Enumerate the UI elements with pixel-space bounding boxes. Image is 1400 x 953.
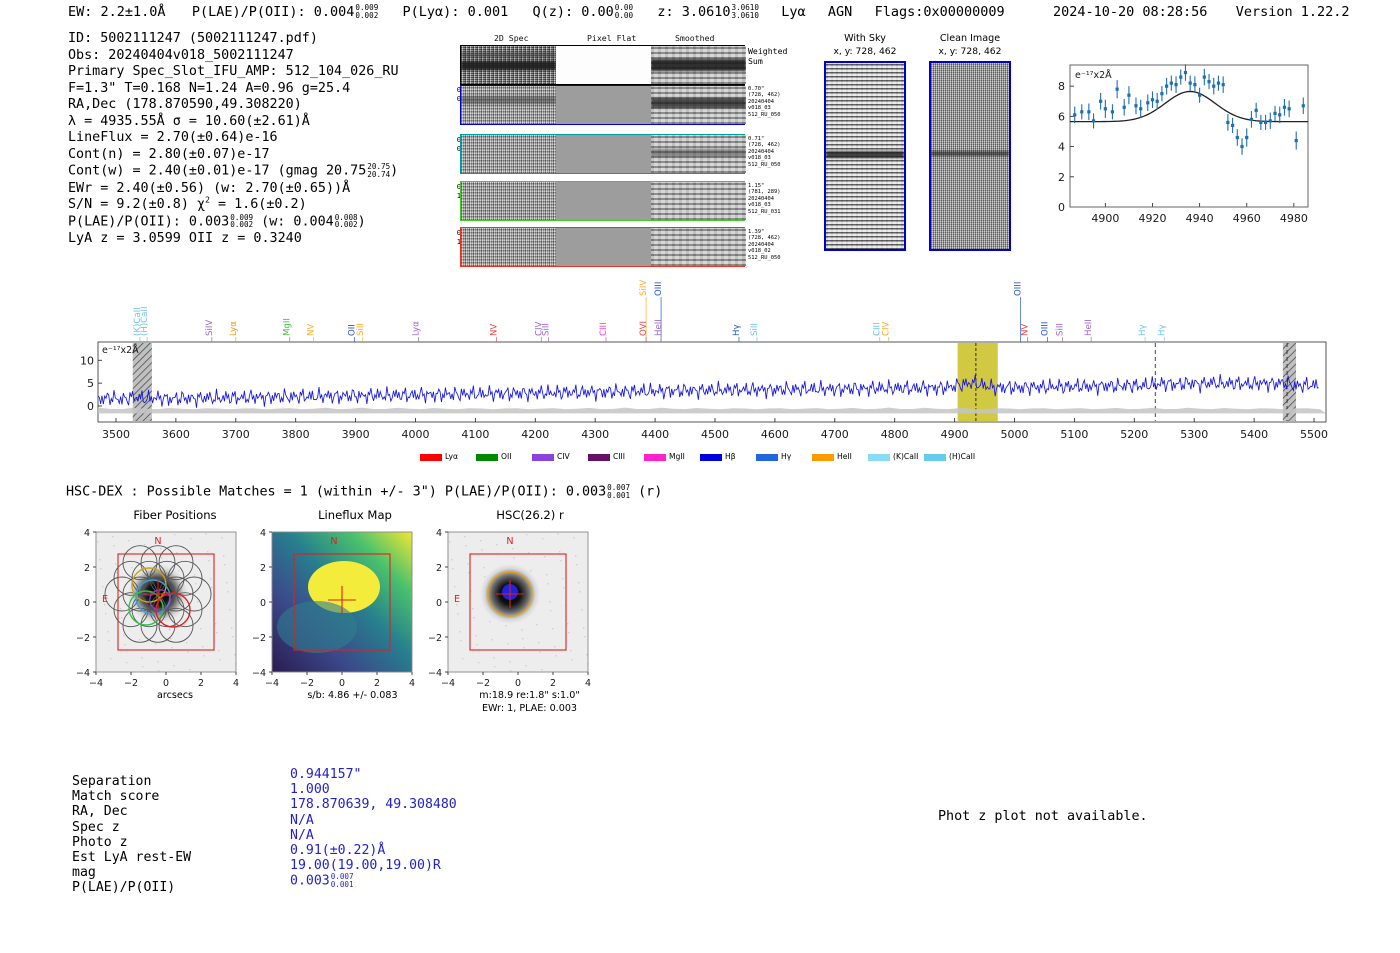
header-plae-label: P(LAE)/P(OII): — [192, 4, 306, 20]
svg-text:3500: 3500 — [102, 428, 130, 441]
svg-text:−4: −4 — [265, 678, 279, 689]
info-cont-w: Cont(w) = 2.40(±0.01)e-17 (gmag 20.7520.… — [68, 163, 399, 180]
fiber0-pixelflat — [556, 86, 651, 124]
match-key-ra-dec: RA, Dec — [72, 804, 128, 819]
legend-item-heii: HeII — [812, 452, 852, 461]
svg-text:HeII: HeII — [1084, 319, 1094, 336]
panel-title-lineflux-map: Lineflux Map — [275, 508, 435, 522]
legend-swatch — [588, 454, 610, 461]
photoz-unavailable-message: Phot z plot not available. — [938, 809, 1148, 824]
fiber1-2dspec — [461, 135, 556, 173]
svg-text:5500: 5500 — [1300, 428, 1328, 441]
svg-text:4: 4 — [585, 678, 591, 689]
fiber2-2dspec — [461, 182, 556, 220]
match-value-1: 1.000 — [290, 782, 457, 797]
linefit-plot: 0246849004920494049604980e⁻¹⁷x2Å — [1036, 55, 1316, 245]
match-key-p-lae-p-oii: P(LAE)/P(OII) — [72, 880, 175, 895]
legend-item-kcaii: (K)CaII — [868, 452, 918, 461]
match-key-match-score: Match score — [72, 789, 159, 804]
svg-text:4700: 4700 — [821, 428, 849, 441]
spec2d-rightlabels-2: 1.15"(781, 289) 20240404v018_03 512_RU_0… — [748, 183, 796, 215]
hscdex-lo: 0.001 — [607, 492, 630, 500]
spec2d-rightlabels-3: 1.39"(728, 462) 20240404v018_02 512_RU_0… — [748, 229, 796, 261]
svg-text:Hγ: Hγ — [1157, 324, 1167, 336]
svg-text:HeII: HeII — [654, 319, 664, 336]
cutout-coords-with-sky: x, y: 728, 462 — [810, 46, 920, 57]
legend-item-mgii: MgII — [644, 452, 685, 461]
info-plae-lo: 0.002 — [230, 221, 253, 229]
spec2d-stack: 2D Spec Pixel Flat Smoothed Weighted Sum… — [432, 33, 762, 248]
svg-text:5200: 5200 — [1120, 428, 1148, 441]
svg-text:4: 4 — [260, 528, 266, 539]
svg-text:N: N — [506, 536, 513, 547]
header-plae-lo: 0.002 — [355, 12, 378, 20]
fiber0-2dspec — [461, 86, 556, 124]
svg-text:0: 0 — [515, 678, 521, 689]
svg-text:3700: 3700 — [222, 428, 250, 441]
cutout-coords-clean-image: x, y: 728, 462 — [915, 46, 1025, 57]
legend-swatch — [420, 454, 442, 461]
header-timestamp-version: 2024-10-20 08:28:56 Version 1.22.2 — [1053, 4, 1350, 20]
weighted-sum-label: Weighted Sum — [748, 47, 787, 66]
caption-hsc-r-line1: m:18.9 re:1.8" s:1.0" — [442, 690, 617, 701]
svg-text:4920: 4920 — [1138, 212, 1166, 225]
svg-text:Hγ: Hγ — [732, 324, 742, 336]
svg-text:4: 4 — [1058, 141, 1065, 154]
svg-text:0: 0 — [436, 598, 442, 609]
svg-text:−4: −4 — [428, 668, 442, 679]
match-value-7: 0.0030.0070.001 — [290, 873, 457, 889]
info-sn-pre: S/N = 9.2(±0.8) χ — [68, 197, 205, 212]
match-value-5: 0.91(±0.22)Å — [290, 843, 457, 858]
svg-text:4900: 4900 — [1091, 212, 1119, 225]
match-key-mag: mag — [72, 865, 96, 880]
match-key-separation: Separation — [72, 774, 151, 789]
svg-text:−2: −2 — [252, 633, 266, 644]
svg-text:3800: 3800 — [282, 428, 310, 441]
match-plae-lo: 0.001 — [331, 881, 354, 889]
svg-text:5300: 5300 — [1180, 428, 1208, 441]
info-primary-spec: Primary Spec_Slot_IFU_AMP: 512_104_026_R… — [68, 64, 399, 81]
svg-text:N: N — [330, 536, 337, 547]
svg-text:0: 0 — [1058, 201, 1065, 214]
svg-text:4600: 4600 — [761, 428, 789, 441]
svg-text:SiII: SiII — [542, 323, 552, 336]
svg-text:SiIV: SiIV — [205, 320, 215, 336]
legend-label: HeII — [837, 452, 852, 461]
svg-text:−4: −4 — [441, 678, 455, 689]
header-plae-value: 0.004 — [314, 4, 355, 20]
info-lambda-sigma: λ = 4935.55Å σ = 10.60(±2.61)Å — [68, 114, 399, 131]
info-plae-mid: (w: 0.004 — [261, 214, 334, 229]
header-summary-line: EW: 2.2±1.0Å P(LAE)/P(OII): 0.0040.0090.… — [68, 4, 1005, 20]
spec2d-row-fiber-2 — [460, 181, 745, 221]
info-plae-w-lo: 0.002 — [335, 221, 358, 229]
svg-text:2: 2 — [436, 563, 442, 574]
svg-text:4400: 4400 — [641, 428, 669, 441]
info-cont-n: Cont(n) = 2.80(±0.07)e-17 — [68, 147, 399, 164]
header-z-lo: 3.0610 — [732, 12, 759, 20]
spec2d-cell-smoothed — [651, 46, 746, 84]
hscdex-match-summary: HSC-DEX : Possible Matches = 1 (within +… — [66, 484, 662, 500]
emission-line-legend: LyαOIICIVCIIIMgIIHβHγHeII(K)CaII(H)CaII — [420, 452, 980, 466]
fiber3-smoothed — [651, 228, 746, 266]
legend-label: MgII — [669, 452, 685, 461]
svg-text:NV: NV — [307, 324, 317, 336]
svg-text:4960: 4960 — [1233, 212, 1261, 225]
svg-text:2: 2 — [374, 678, 380, 689]
cutout-title-with-sky: With Sky — [810, 33, 920, 44]
legend-swatch — [812, 454, 834, 461]
svg-text:4800: 4800 — [881, 428, 909, 441]
legend-swatch — [476, 454, 498, 461]
svg-text:5: 5 — [87, 377, 94, 390]
legend-swatch — [700, 454, 722, 461]
svg-text:−4: −4 — [252, 668, 266, 679]
svg-text:4940: 4940 — [1186, 212, 1214, 225]
legend-item-hcaii: (H)CaII — [924, 452, 975, 461]
svg-text:4980: 4980 — [1280, 212, 1308, 225]
info-sn-post: = 1.6(±0.2) — [210, 197, 307, 212]
svg-text:4500: 4500 — [701, 428, 729, 441]
svg-text:e⁻¹⁷x2Å: e⁻¹⁷x2Å — [1075, 69, 1112, 81]
match-key-photo-z: Photo z — [72, 835, 128, 850]
svg-text:Lyα: Lyα — [412, 321, 422, 336]
svg-text:4300: 4300 — [581, 428, 609, 441]
panel-title-hsc-r: HSC(26.2) r — [450, 508, 610, 522]
legend-label: Hβ — [725, 452, 736, 461]
legend-item-oii: OII — [476, 452, 511, 461]
legend-label: OII — [501, 452, 511, 461]
fiber3-pixelflat — [556, 228, 651, 266]
header-plya: P(Lyα): 0.001 — [403, 4, 509, 20]
svg-text:Lyα: Lyα — [229, 321, 239, 336]
svg-text:4200: 4200 — [521, 428, 549, 441]
legend-label: CIII — [613, 452, 625, 461]
svg-text:0: 0 — [87, 400, 94, 413]
legend-item-hγ: Hγ — [756, 452, 791, 461]
svg-text:0: 0 — [84, 598, 90, 609]
svg-text:2: 2 — [260, 563, 266, 574]
hscdex-text: HSC-DEX : Possible Matches = 1 (within +… — [66, 485, 606, 500]
spec2d-cell-2dspec — [461, 46, 556, 84]
svg-text:SiII: SiII — [356, 323, 366, 336]
header-qz-lo: 0.00 — [615, 12, 633, 20]
header-line-id: Lyα — [781, 4, 805, 20]
svg-text:10: 10 — [80, 354, 94, 367]
header-class: AGN — [828, 4, 852, 20]
spec2d-col-title-2dspec: 2D Spec — [494, 33, 529, 43]
legend-label: Hγ — [781, 452, 791, 461]
svg-text:0: 0 — [163, 678, 169, 689]
header-ew: EW: 2.2±1.0Å — [68, 4, 166, 20]
match-properties-values: 0.944157"1.000178.870639, 49.308480N/AN/… — [290, 767, 457, 889]
svg-text:4000: 4000 — [401, 428, 429, 441]
info-redshifts: LyA z = 3.0599 OII z = 0.3240 — [68, 231, 399, 248]
cutout-panels: With Sky x, y: 728, 462 Clean Image x, y… — [810, 33, 1025, 248]
spec2d-row-fiber-0 — [460, 85, 745, 125]
match-value-3: N/A — [290, 813, 457, 828]
legend-item-hβ: Hβ — [700, 452, 736, 461]
header-flags: Flags:0x00000009 — [875, 4, 1005, 20]
svg-text:−2: −2 — [300, 678, 314, 689]
spec2d-col-title-pixelflat: Pixel Flat — [587, 33, 636, 43]
svg-text:5400: 5400 — [1240, 428, 1268, 441]
svg-text:OIII: OIII — [654, 282, 664, 296]
spec2d-cell-pixelflat — [556, 46, 651, 84]
svg-text:0: 0 — [339, 678, 345, 689]
svg-text:2: 2 — [1058, 171, 1065, 184]
cutout-image-clean — [929, 61, 1011, 251]
svg-text:NV: NV — [489, 324, 499, 336]
full-spectrum-plot: 0510350036003700380039004000410042004300… — [60, 270, 1340, 480]
info-gmag-lo: 20.74 — [367, 171, 390, 179]
info-cont-w-post: ) — [390, 164, 398, 179]
svg-text:−2: −2 — [428, 633, 442, 644]
caption-fiber-positions: arcsecs — [95, 690, 255, 701]
svg-text:NV: NV — [1021, 324, 1031, 336]
legend-item-civ: CIV — [532, 452, 570, 461]
match-value-6: 19.00(19.00,19.00)R — [290, 858, 457, 873]
svg-text:4900: 4900 — [941, 428, 969, 441]
image-panel-captions: arcsecs s/b: 4.86 +/- 0.083 m:18.9 re:1.… — [60, 690, 620, 730]
match-value-2: 178.870639, 49.308480 — [290, 797, 457, 812]
info-obs: Obs: 20240404v018_5002111247 — [68, 48, 399, 65]
legend-item-ciii: CIII — [588, 452, 625, 461]
svg-text:SiIV: SiIV — [639, 280, 649, 296]
info-lineflux: LineFlux = 2.70(±0.64)e-16 — [68, 130, 399, 147]
info-plae-pre: P(LAE)/P(OII): 0.003 — [68, 214, 229, 229]
svg-text:6: 6 — [1058, 110, 1065, 123]
legend-label: (K)CaII — [893, 452, 918, 461]
svg-text:3600: 3600 — [162, 428, 190, 441]
svg-text:5000: 5000 — [1001, 428, 1029, 441]
svg-text:5100: 5100 — [1060, 428, 1088, 441]
svg-text:e⁻¹⁷x2Å: e⁻¹⁷x2Å — [102, 344, 139, 356]
info-radec: RA,Dec (178.870590,49.308220) — [68, 97, 399, 114]
fiber2-smoothed — [651, 182, 746, 220]
caption-lineflux-map: s/b: 4.86 +/- 0.083 — [265, 690, 440, 701]
fiber1-smoothed — [651, 135, 746, 173]
fiber2-pixelflat — [556, 182, 651, 220]
match-key-est-lya-rest-ew: Est LyA rest-EW — [72, 850, 191, 865]
match-value-0: 0.944157" — [290, 767, 457, 782]
timestamp: 2024-10-20 08:28:56 — [1053, 4, 1207, 20]
info-sn-chi2: S/N = 9.2(±0.8) χ2 = 1.6(±0.2) — [68, 197, 399, 214]
source-info-block: ID: 5002111247 (5002111247.pdf) Obs: 202… — [68, 31, 399, 248]
legend-swatch — [756, 454, 778, 461]
panel-title-fiber-positions: Fiber Positions — [95, 508, 255, 522]
legend-swatch — [924, 454, 946, 461]
hscdex-filter: (r) — [638, 485, 662, 500]
spec2d-row-fiber-1 — [460, 134, 745, 174]
svg-text:8: 8 — [1058, 80, 1065, 93]
fiber3-2dspec — [461, 228, 556, 266]
legend-label: Lyα — [445, 452, 458, 461]
svg-text:OIII: OIII — [1014, 282, 1024, 296]
match-plae-value: 0.003 — [290, 874, 330, 889]
svg-text:−2: −2 — [76, 633, 90, 644]
info-plae-post: ) — [358, 214, 366, 229]
svg-text:(H)CaII: (H)CaII — [140, 306, 150, 336]
svg-text:0: 0 — [260, 598, 266, 609]
svg-text:4: 4 — [436, 528, 442, 539]
spec2d-rightlabels-1: 0.71"(728, 462) 20240404v018_03 512_RU_0… — [748, 136, 796, 168]
cutout-image-with-sky — [824, 61, 906, 251]
info-cont-w-pre: Cont(w) = 2.40(±0.01)e-17 (gmag 20.75 — [68, 164, 366, 179]
svg-text:2: 2 — [84, 563, 90, 574]
cutout-title-clean-image: Clean Image — [915, 33, 1025, 44]
spec2d-col-title-smoothed: Smoothed — [675, 33, 714, 43]
svg-text:MgII: MgII — [283, 318, 293, 336]
svg-text:Hγ: Hγ — [1138, 324, 1148, 336]
svg-text:OVI: OVI — [639, 321, 649, 336]
version: Version 1.22.2 — [1236, 4, 1350, 20]
svg-text:−2: −2 — [476, 678, 490, 689]
spec2d-row-weighted-sum — [460, 45, 745, 85]
svg-text:E: E — [454, 594, 460, 605]
svg-text:SiII: SiII — [1055, 323, 1065, 336]
svg-text:CIII: CIII — [599, 322, 609, 336]
legend-swatch — [868, 454, 890, 461]
fiber1-pixelflat — [556, 135, 651, 173]
svg-text:OIII: OIII — [1041, 322, 1051, 336]
caption-hsc-r-line2: EWr: 1, PLAE: 0.003 — [442, 703, 617, 714]
svg-text:4100: 4100 — [461, 428, 489, 441]
legend-item-lyα: Lyα — [420, 452, 458, 461]
header-z-label: z: 3.0610 — [657, 4, 730, 20]
svg-text:2: 2 — [550, 678, 556, 689]
spec2d-row-fiber-3 — [460, 227, 745, 267]
match-key-spec-z: Spec z — [72, 820, 120, 835]
info-id: ID: 5002111247 (5002111247.pdf) — [68, 31, 399, 48]
header-qz-label: Q(z): 0.00 — [533, 4, 614, 20]
legend-swatch — [644, 454, 666, 461]
svg-text:2: 2 — [198, 678, 204, 689]
legend-label: CIV — [557, 452, 570, 461]
svg-text:N: N — [154, 536, 161, 547]
svg-text:−2: −2 — [124, 678, 138, 689]
legend-swatch — [532, 454, 554, 461]
svg-text:−4: −4 — [76, 668, 90, 679]
info-plae: P(LAE)/P(OII): 0.0030.0090.002 (w: 0.004… — [68, 214, 399, 231]
svg-text:4: 4 — [84, 528, 90, 539]
svg-text:SiII: SiII — [750, 323, 760, 336]
info-ewr: EWr = 2.40(±0.56) (w: 2.70(±0.65))Å — [68, 181, 399, 198]
svg-text:CIV: CIV — [882, 321, 892, 336]
svg-text:E: E — [102, 594, 108, 605]
legend-label: (H)CaII — [949, 452, 975, 461]
svg-text:4: 4 — [409, 678, 415, 689]
fiber0-smoothed — [651, 86, 746, 124]
svg-text:4: 4 — [233, 678, 239, 689]
info-seeing: F=1.3" T=0.168 N=1.24 A=0.96 g=25.4 — [68, 81, 399, 98]
svg-text:−4: −4 — [89, 678, 103, 689]
svg-text:3900: 3900 — [342, 428, 370, 441]
match-value-4: N/A — [290, 828, 457, 843]
spec2d-rightlabels-0: 0.70"(728, 462) 20240404v018_03 512_RU_0… — [748, 86, 796, 118]
